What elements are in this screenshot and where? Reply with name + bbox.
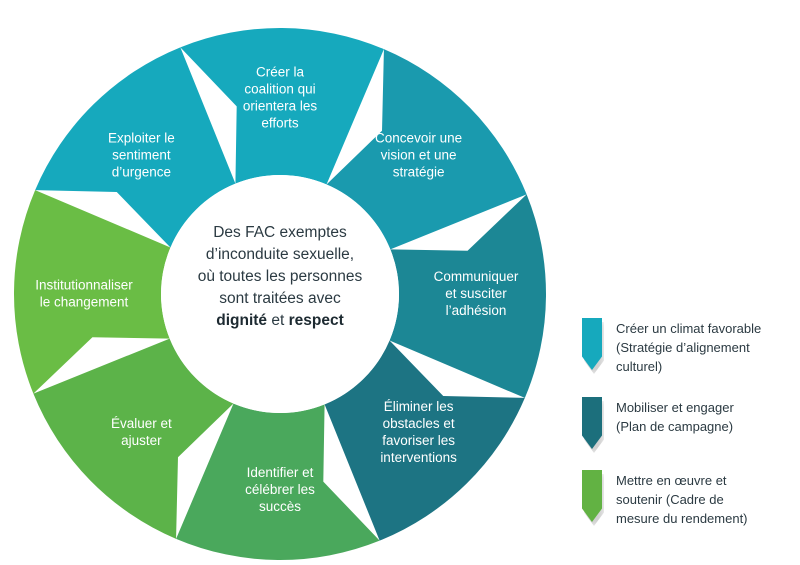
center-line-1: Des FAC exemptes bbox=[162, 222, 398, 244]
legend-label-line: Mobiliser et engager bbox=[616, 398, 734, 417]
legend-label-mettre-en-oeuvre-et-soutenir: Mettre en œuvre etsoutenir (Cadre demesu… bbox=[616, 470, 748, 528]
legend-swatch-creer-un-climat-favorable bbox=[582, 318, 602, 370]
legend-swatch-chip bbox=[582, 397, 602, 449]
legend-label-line: Créer un climat favorable bbox=[616, 319, 761, 338]
legend-label-line: soutenir (Cadre de bbox=[616, 490, 748, 509]
legend-label-line: culturel) bbox=[616, 357, 761, 376]
center-line-5: dignité et respect bbox=[162, 310, 398, 332]
center-line-4: sont traitées avec bbox=[162, 288, 398, 310]
legend-swatch-chip bbox=[582, 318, 602, 370]
center-line-2: d’inconduite sexuelle, bbox=[162, 244, 398, 266]
legend-label-line: (Plan de campagne) bbox=[616, 417, 734, 436]
infographic-stage: Créer lacoalition quiorientera leseffort… bbox=[0, 0, 800, 565]
center-bold-dignite: dignité bbox=[216, 312, 267, 329]
legend-item-mettre-en-oeuvre-et-soutenir[interactable]: Mettre en œuvre etsoutenir (Cadre demesu… bbox=[582, 470, 797, 528]
center-line-3: où toutes les personnes bbox=[162, 266, 398, 288]
legend-label-line: mesure du rendement) bbox=[616, 509, 748, 528]
legend: Créer un climat favorable(Stratégie d’al… bbox=[582, 318, 797, 549]
legend-label-creer-un-climat-favorable: Créer un climat favorable(Stratégie d’al… bbox=[616, 318, 761, 376]
center-conjunction: et bbox=[267, 312, 289, 329]
legend-label-line: Mettre en œuvre et bbox=[616, 471, 748, 490]
legend-item-creer-un-climat-favorable[interactable]: Créer un climat favorable(Stratégie d’al… bbox=[582, 318, 797, 376]
legend-label-mobiliser-et-engager: Mobiliser et engager(Plan de campagne) bbox=[616, 397, 734, 436]
center-bold-respect: respect bbox=[289, 312, 344, 329]
legend-swatch-mettre-en-oeuvre-et-soutenir bbox=[582, 470, 602, 522]
legend-item-mobiliser-et-engager[interactable]: Mobiliser et engager(Plan de campagne) bbox=[582, 397, 797, 449]
legend-label-line: (Stratégie d’alignement bbox=[616, 338, 761, 357]
center-vision-statement: Des FAC exemptes d’inconduite sexuelle, … bbox=[162, 222, 398, 332]
legend-swatch-chip bbox=[582, 470, 602, 522]
legend-swatch-mobiliser-et-engager bbox=[582, 397, 602, 449]
